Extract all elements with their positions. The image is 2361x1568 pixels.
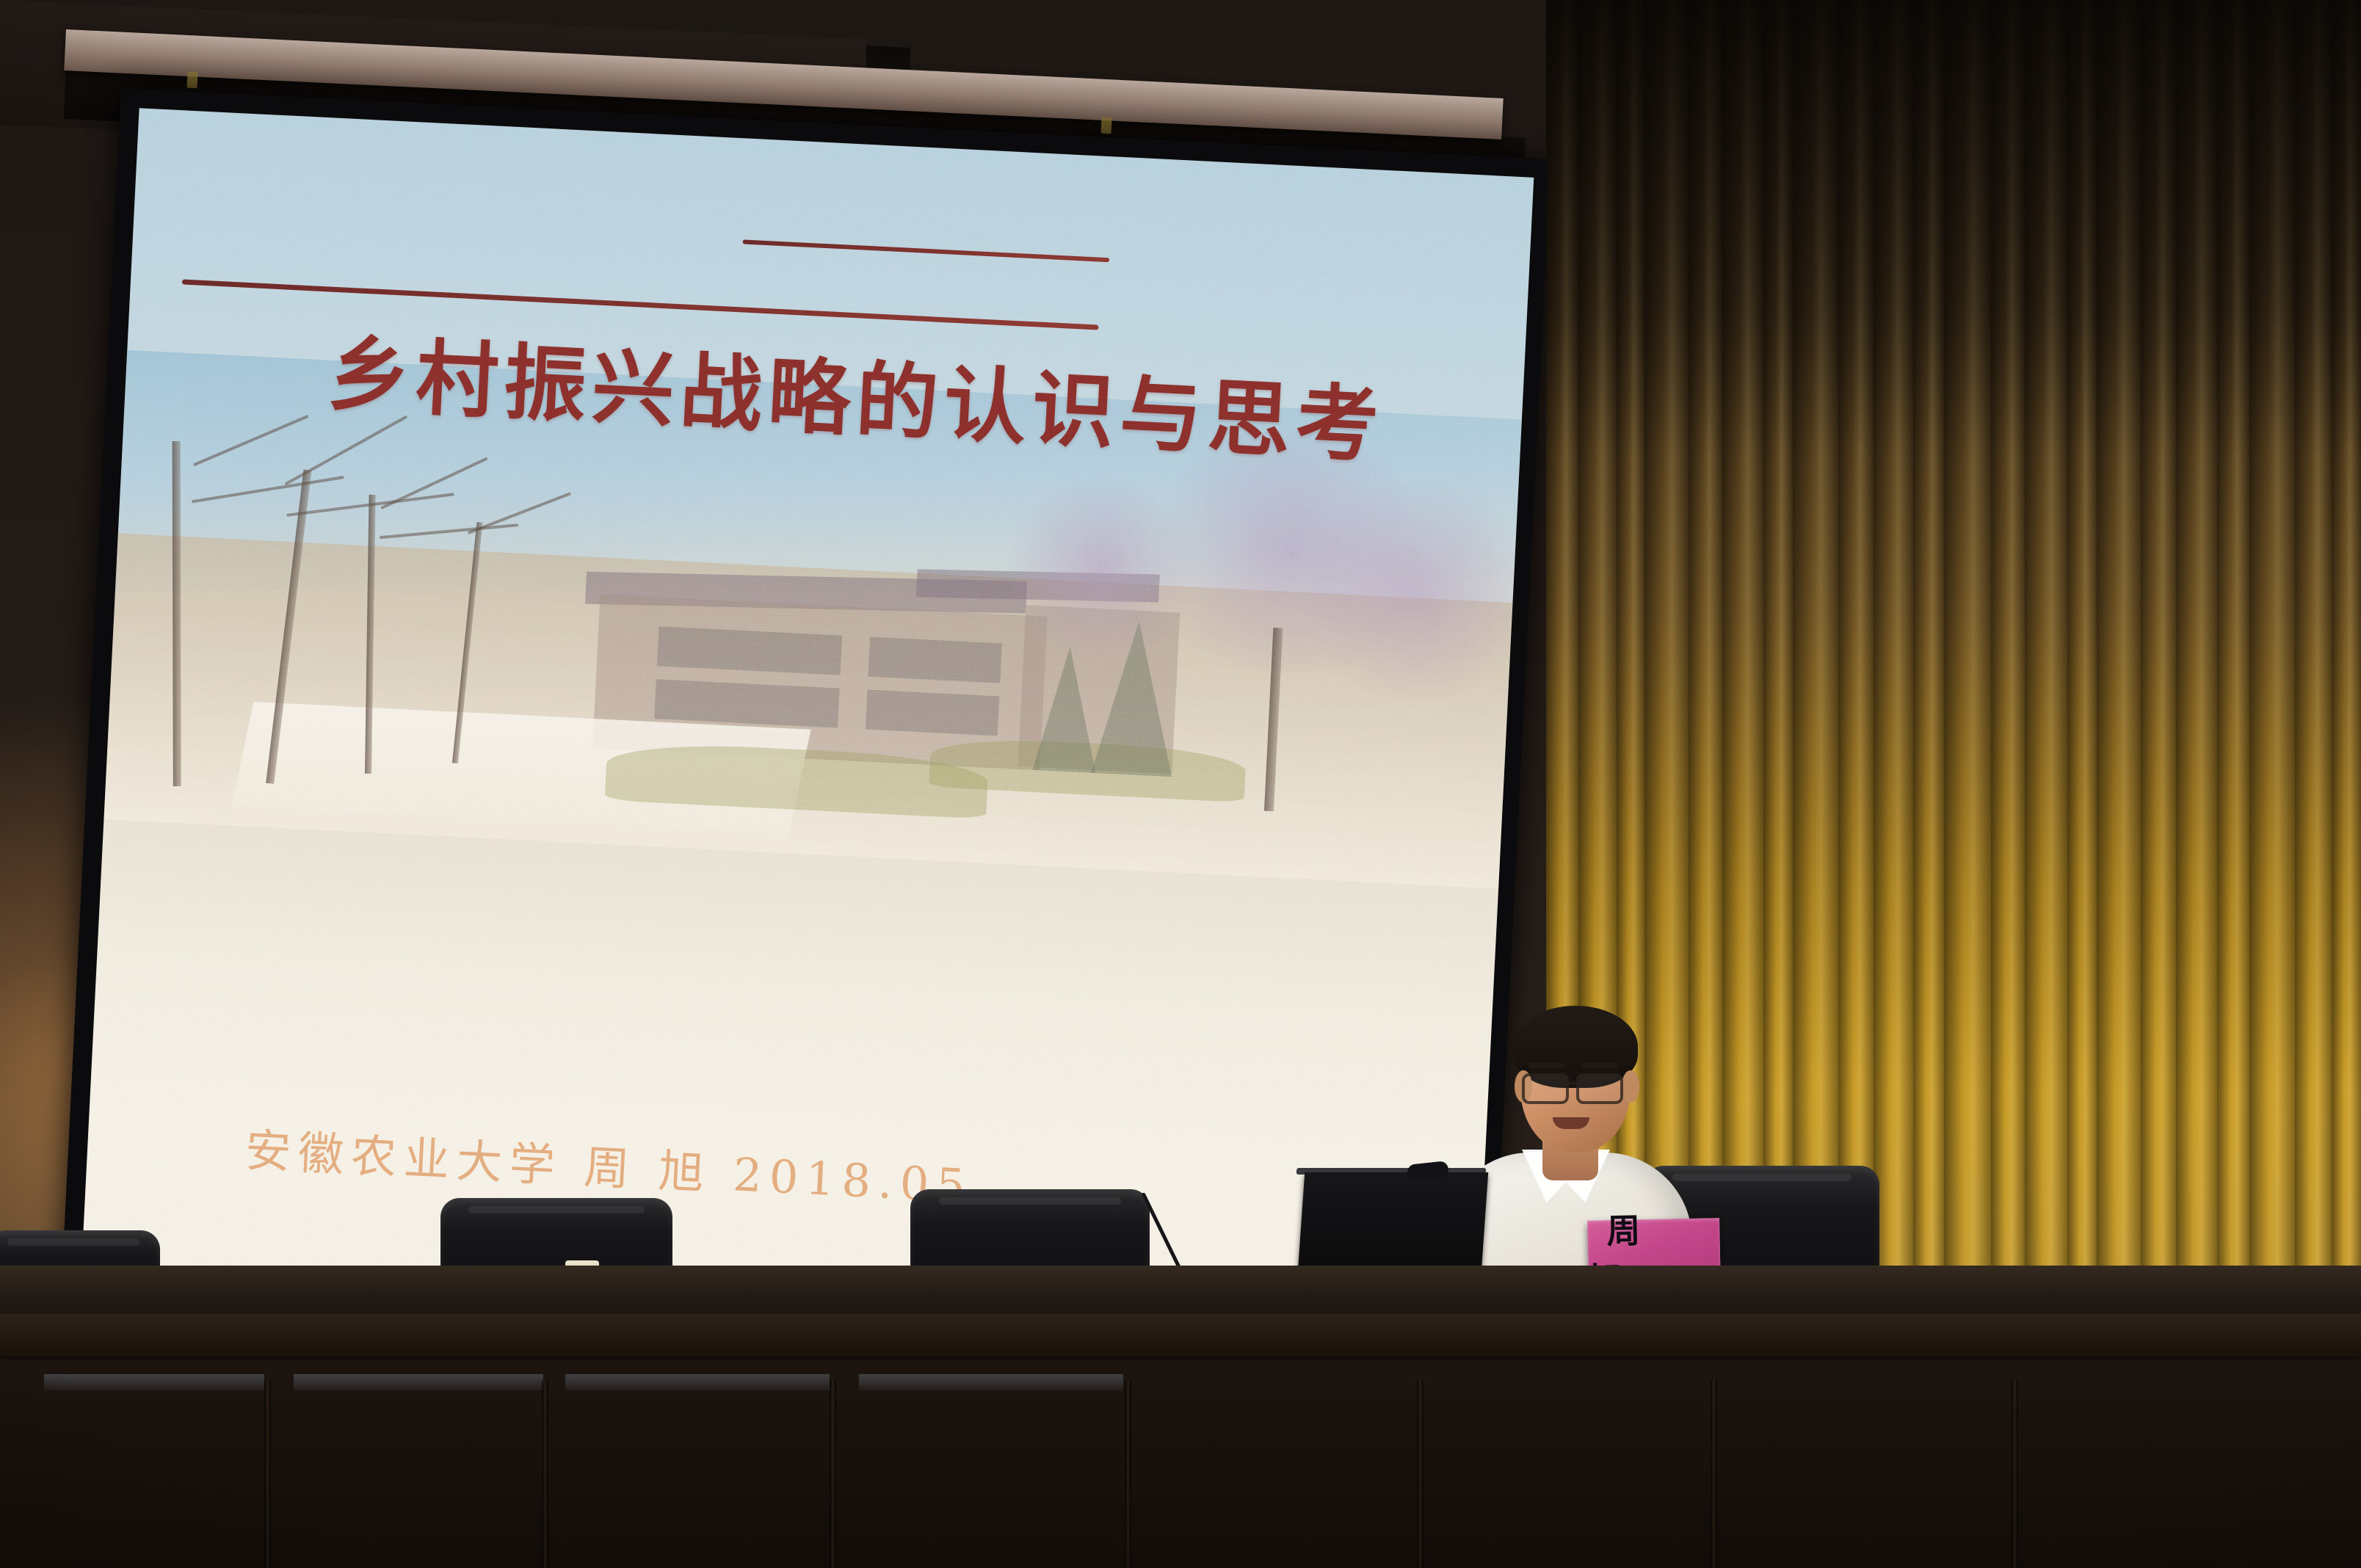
dais-panel-seam bbox=[1417, 1380, 1424, 1568]
dais-panel-seam bbox=[1125, 1380, 1131, 1568]
building-window bbox=[868, 637, 1001, 683]
curtain-pleat bbox=[2217, 0, 2249, 1270]
dais-panel-notch bbox=[294, 1374, 543, 1390]
curtain-pleat bbox=[2141, 0, 2176, 1270]
curtain-pleat bbox=[2295, 0, 2332, 1270]
curtain-pleat bbox=[2332, 0, 2361, 1270]
dais-panel-seam bbox=[2012, 1380, 2018, 1568]
slide-rule-short bbox=[742, 239, 1109, 262]
eyeglasses-icon bbox=[1576, 1073, 1623, 1104]
dais-top-rail bbox=[0, 1314, 2361, 1357]
valance-fastener-icon bbox=[186, 72, 197, 89]
valance-fastener-icon bbox=[1100, 117, 1111, 134]
speaker-eyebrow bbox=[1582, 1063, 1617, 1068]
eyeglasses-icon bbox=[1522, 1073, 1569, 1104]
curtain-pleat bbox=[2249, 0, 2295, 1270]
auditorium-scene: 乡村振兴战略的认识与思考 安徽农业大学 周 旭 2018.05 bbox=[0, 0, 2361, 1568]
dais-panel-seam bbox=[542, 1380, 548, 1568]
curtain-pleat bbox=[1838, 0, 1874, 1270]
dais-panel-seam bbox=[1711, 1380, 1717, 1568]
speaker-eyebrow bbox=[1529, 1063, 1564, 1068]
dais-panel-seam bbox=[830, 1380, 836, 1568]
dais-panel-notch bbox=[565, 1374, 830, 1390]
tree-trunk bbox=[173, 441, 181, 786]
speaker-ear bbox=[1622, 1070, 1639, 1103]
curtain-pleat bbox=[1944, 0, 1991, 1270]
curtain-pleat bbox=[1722, 0, 1763, 1270]
curtain-pleat bbox=[1913, 0, 1944, 1270]
curtain-pleat bbox=[2025, 0, 2067, 1270]
dais-panel-notch bbox=[859, 1374, 1123, 1390]
curtain-pleat bbox=[1991, 0, 2025, 1270]
dais-panel-seam bbox=[264, 1380, 271, 1568]
curtain-pleat bbox=[1763, 0, 1793, 1270]
building-window bbox=[866, 690, 999, 736]
curtain-pleat bbox=[1793, 0, 1838, 1270]
dais-panel-notch bbox=[44, 1374, 264, 1390]
eyeglasses-bridge-icon bbox=[1562, 1082, 1578, 1085]
curtain-pleat bbox=[2067, 0, 2097, 1270]
curtain-pleat bbox=[2097, 0, 2141, 1270]
curtain-pleat bbox=[1874, 0, 1913, 1270]
curtain-pleat bbox=[2176, 0, 2217, 1270]
